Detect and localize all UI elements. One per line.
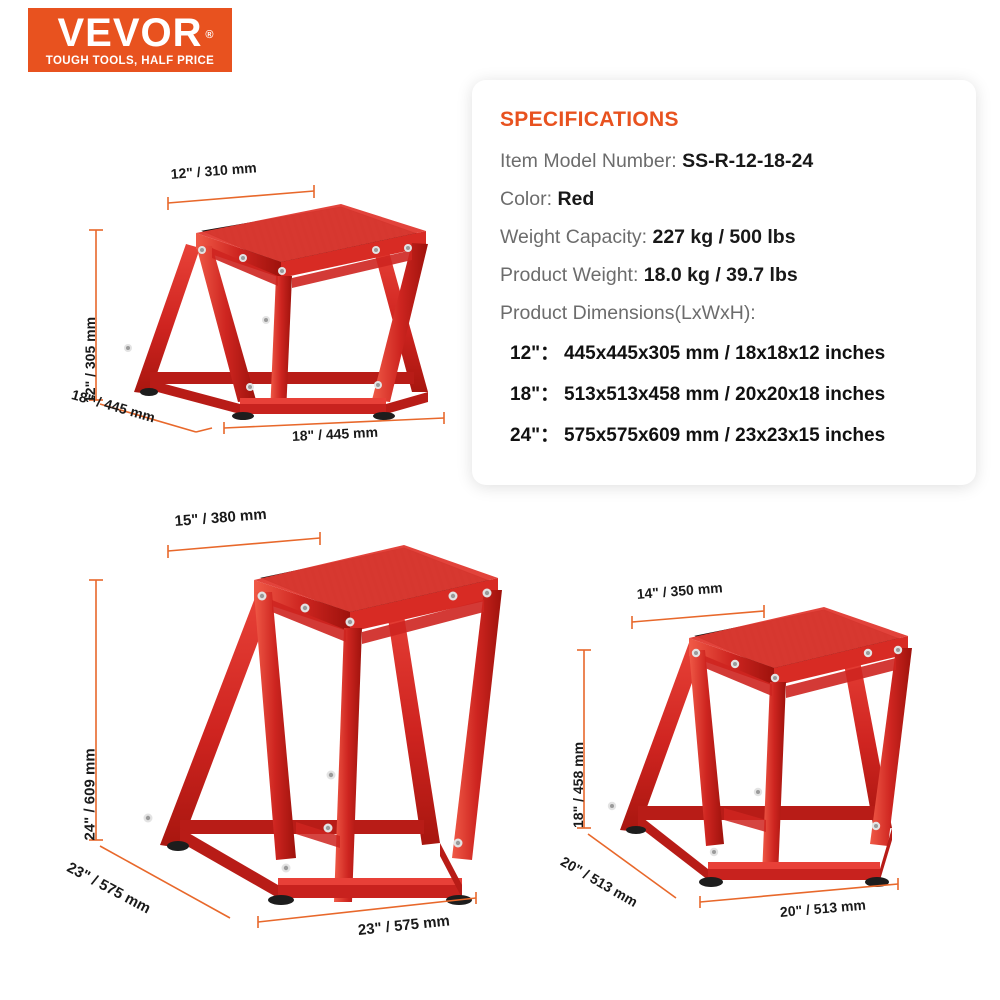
dimension-value-12: 445x445x305 mm / 18x18x12 inches bbox=[564, 343, 885, 364]
spec-label-model: Item Model Number: bbox=[500, 150, 682, 172]
spec-label-color: Color: bbox=[500, 188, 557, 210]
plyo-box-18-illustration bbox=[608, 607, 912, 887]
product-spec-sheet: VEVOR ® TOUGH TOOLS, HALF PRICE SPECIFIC… bbox=[0, 0, 1000, 1000]
label-12-depth: 18" / 445 mm bbox=[70, 386, 157, 425]
brand-tagline: TOUGH TOOLS, HALF PRICE bbox=[46, 55, 215, 67]
label-18-height: 18" / 458 mm bbox=[570, 742, 586, 828]
dimension-row-12: 12"：445x445x305 mm / 18x18x12 inches bbox=[500, 338, 950, 365]
label-18-top-width: 14" / 350 mm bbox=[636, 579, 723, 602]
spec-panel-title: SPECIFICATIONS bbox=[500, 108, 950, 132]
spec-value-color: Red bbox=[557, 188, 594, 210]
label-12-base-width: 18" / 445 mm bbox=[292, 424, 379, 444]
spec-row-color: Color: Red bbox=[500, 188, 950, 211]
spec-value-product-weight: 18.0 kg / 39.7 lbs bbox=[644, 264, 798, 286]
dimension-size-12: 12"： bbox=[510, 338, 564, 365]
vevor-logo: VEVOR ® TOUGH TOOLS, HALF PRICE bbox=[28, 8, 232, 72]
dimension-size-18: 18"： bbox=[510, 379, 564, 406]
label-24-height: 24" / 609 mm bbox=[82, 748, 99, 840]
spec-label-weight-capacity: Weight Capacity: bbox=[500, 226, 652, 248]
brand-name-text: VEVOR bbox=[57, 11, 202, 55]
registered-trademark-icon: ® bbox=[205, 15, 214, 55]
dimension-size-24: 24"： bbox=[510, 420, 564, 447]
dimension-row-24: 24"：575x575x609 mm / 23x23x15 inches bbox=[500, 420, 950, 447]
spec-label-dimensions: Product Dimensions(LxWxH): bbox=[500, 302, 950, 325]
spec-row-product-weight: Product Weight: 18.0 kg / 39.7 lbs bbox=[500, 264, 950, 287]
spec-label-product-weight: Product Weight: bbox=[500, 264, 644, 286]
label-18-base-width: 20" / 513 mm bbox=[779, 897, 866, 920]
spec-value-model: SS-R-12-18-24 bbox=[682, 150, 813, 172]
label-12-top-width: 12" / 310 mm bbox=[170, 159, 257, 182]
plyo-box-24-illustration bbox=[144, 545, 503, 905]
spec-row-weight-capacity: Weight Capacity: 227 kg / 500 lbs bbox=[500, 226, 950, 249]
spec-value-weight-capacity: 227 kg / 500 lbs bbox=[652, 226, 795, 248]
label-24-top-width: 15" / 380 mm bbox=[174, 506, 267, 530]
plyo-box-12-illustration bbox=[124, 204, 428, 420]
label-24-base-width: 23" / 575 mm bbox=[357, 912, 450, 939]
label-18-depth: 20" / 513 mm bbox=[558, 853, 641, 910]
dimension-lines-18 bbox=[577, 605, 898, 908]
dimension-lines-24 bbox=[89, 532, 476, 928]
dimension-value-24: 575x575x609 mm / 23x23x15 inches bbox=[564, 425, 885, 446]
dimension-row-18: 18"：513x513x458 mm / 20x20x18 inches bbox=[500, 379, 950, 406]
specifications-panel: SPECIFICATIONS Item Model Number: SS-R-1… bbox=[472, 80, 976, 485]
spec-row-model: Item Model Number: SS-R-12-18-24 bbox=[500, 150, 950, 173]
dimension-value-18: 513x513x458 mm / 20x20x18 inches bbox=[564, 384, 885, 405]
dimension-lines-12 bbox=[89, 185, 444, 434]
brand-name: VEVOR ® bbox=[57, 13, 202, 53]
label-24-depth: 23" / 575 mm bbox=[64, 859, 153, 917]
